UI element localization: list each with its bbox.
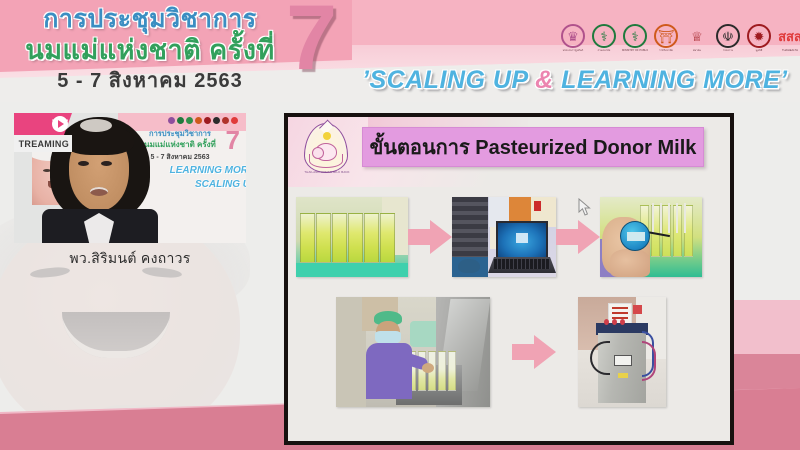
arrow-right-3 bbox=[512, 335, 556, 369]
conference-title-line1: การประชุมวิชาการ bbox=[0, 0, 300, 34]
process-row-1 bbox=[296, 197, 732, 277]
tagline-part1: ’SCALING UP bbox=[362, 66, 535, 94]
streaming-badge-text: TREAMING bbox=[14, 135, 72, 152]
arrow-right-2 bbox=[556, 220, 600, 254]
sponsor-logo-5-caption: กระทรวง bbox=[715, 49, 741, 52]
human-milk-bank-logo: THAILAND HUMAN MILK BANK bbox=[296, 121, 358, 185]
speaker-name-caption: พว.สิริมนต์ คงถาวร bbox=[14, 248, 246, 270]
sponsor-logo-strip: ♛ พระบรมราชูปถัมภ์ ⚕ กรมอนามัย ⚕ MINISTR… bbox=[560, 24, 800, 52]
sponsor-logo-5: ☫ กระทรวง bbox=[715, 24, 741, 52]
live-streaming-badge: VE TREAMING bbox=[14, 113, 72, 159]
human-milk-bank-logo-caption: THAILAND HUMAN MILK BANK bbox=[296, 171, 358, 175]
photo-milk-bottle-crates bbox=[296, 197, 408, 277]
royal-emblem-logo-icon: ♛ bbox=[561, 24, 585, 48]
sponsor-logo-7-caption: THAIHEALTH bbox=[777, 49, 800, 52]
conference-date: 5 - 7 สิงหาคม 2563 bbox=[0, 68, 300, 94]
presentation-slide[interactable]: THAILAND HUMAN MILK BANK ขั้นตอนการ Past… bbox=[284, 113, 734, 445]
sponsor-logo-0: ♛ พระบรมราชูปถัมภ์ bbox=[560, 24, 586, 52]
mouse-cursor bbox=[578, 198, 592, 218]
video-backdrop-logo-strip bbox=[168, 117, 238, 124]
thai-crown-logo-icon: ♕ bbox=[685, 24, 709, 48]
ministry-public-health-logo-icon: ⚕ bbox=[592, 24, 616, 48]
sponsor-logo-1: ⚕ กรมอนามัย bbox=[591, 24, 617, 52]
video-backdrop-tagline1: LEARNING MOR bbox=[170, 165, 246, 176]
live-stream-video[interactable]: การประชุมวิชาการ นมแม่แห่งชาติ ครั้งที่ … bbox=[14, 113, 246, 243]
sponsor-logo-4-caption: สมาคม bbox=[684, 49, 710, 52]
photo-nurse-loading-bottles bbox=[336, 297, 490, 407]
tagline-ampersand: & bbox=[535, 66, 554, 94]
video-frame: การประชุมวิชาการ นมแม่แห่งชาติ ครั้งที่ … bbox=[14, 113, 246, 243]
process-row-2 bbox=[336, 297, 732, 407]
health-department-logo-icon: ⚕ bbox=[623, 24, 647, 48]
photo-laptop-monitoring bbox=[452, 197, 556, 277]
conference-title-block: การประชุมวิชาการ นมแม่แห่งชาติ ครั้งที่ … bbox=[0, 0, 300, 102]
royal-crest-logo-icon: ⛩ bbox=[654, 24, 678, 48]
slide-title: ขั้นตอนการ Pasteurized Donor Milk bbox=[362, 127, 704, 167]
video-backdrop-tagline2: SCALING U bbox=[195, 179, 246, 190]
conference-edition-number: 7 bbox=[286, 0, 337, 84]
sponsor-logo-2-caption: MINISTRY OF PUBLIC HEALTH bbox=[622, 49, 648, 52]
sponsor-logo-7: สสส THAIHEALTH bbox=[777, 24, 800, 52]
play-icon bbox=[52, 116, 68, 132]
sponsor-logo-4: ♕ สมาคม bbox=[684, 24, 710, 52]
sponsor-logo-3-caption: ราชวิทยาลัย bbox=[653, 49, 679, 52]
sponsor-logo-1-caption: กรมอนามัย bbox=[591, 49, 617, 52]
photo-pasteurizer-machine bbox=[578, 297, 666, 407]
sponsor-logo-2: ⚕ MINISTRY OF PUBLIC HEALTH bbox=[622, 24, 648, 52]
sponsor-logo-3: ⛩ ราชวิทยาลัย bbox=[653, 24, 679, 52]
tagline-part2: LEARNING MORE’ bbox=[554, 66, 788, 94]
conference-tagline: ’SCALING UP & LEARNING MORE’ bbox=[362, 66, 788, 95]
sponsor-logo-6: ✹ มูลนิธิ bbox=[746, 24, 772, 52]
video-backdrop-edition: 7 bbox=[226, 127, 240, 153]
garuda-seal-logo-icon: ☫ bbox=[716, 24, 740, 48]
conference-title-line2: นมแม่แห่งชาติ ครั้งที่ bbox=[0, 34, 300, 66]
screen: การประชุมวิชาการ นมแม่แห่งชาติ ครั้งที่ … bbox=[0, 0, 800, 450]
photo-temperature-probe bbox=[600, 197, 702, 277]
arrow-right-1 bbox=[408, 220, 452, 254]
sponsor-logo-6-caption: มูลนิธิ bbox=[746, 49, 772, 52]
sss-thaihealth-logo-icon: สสส bbox=[778, 24, 800, 48]
red-crest-logo-icon: ✹ bbox=[747, 24, 771, 48]
sponsor-logo-0-caption: พระบรมราชูปถัมภ์ bbox=[560, 49, 586, 52]
